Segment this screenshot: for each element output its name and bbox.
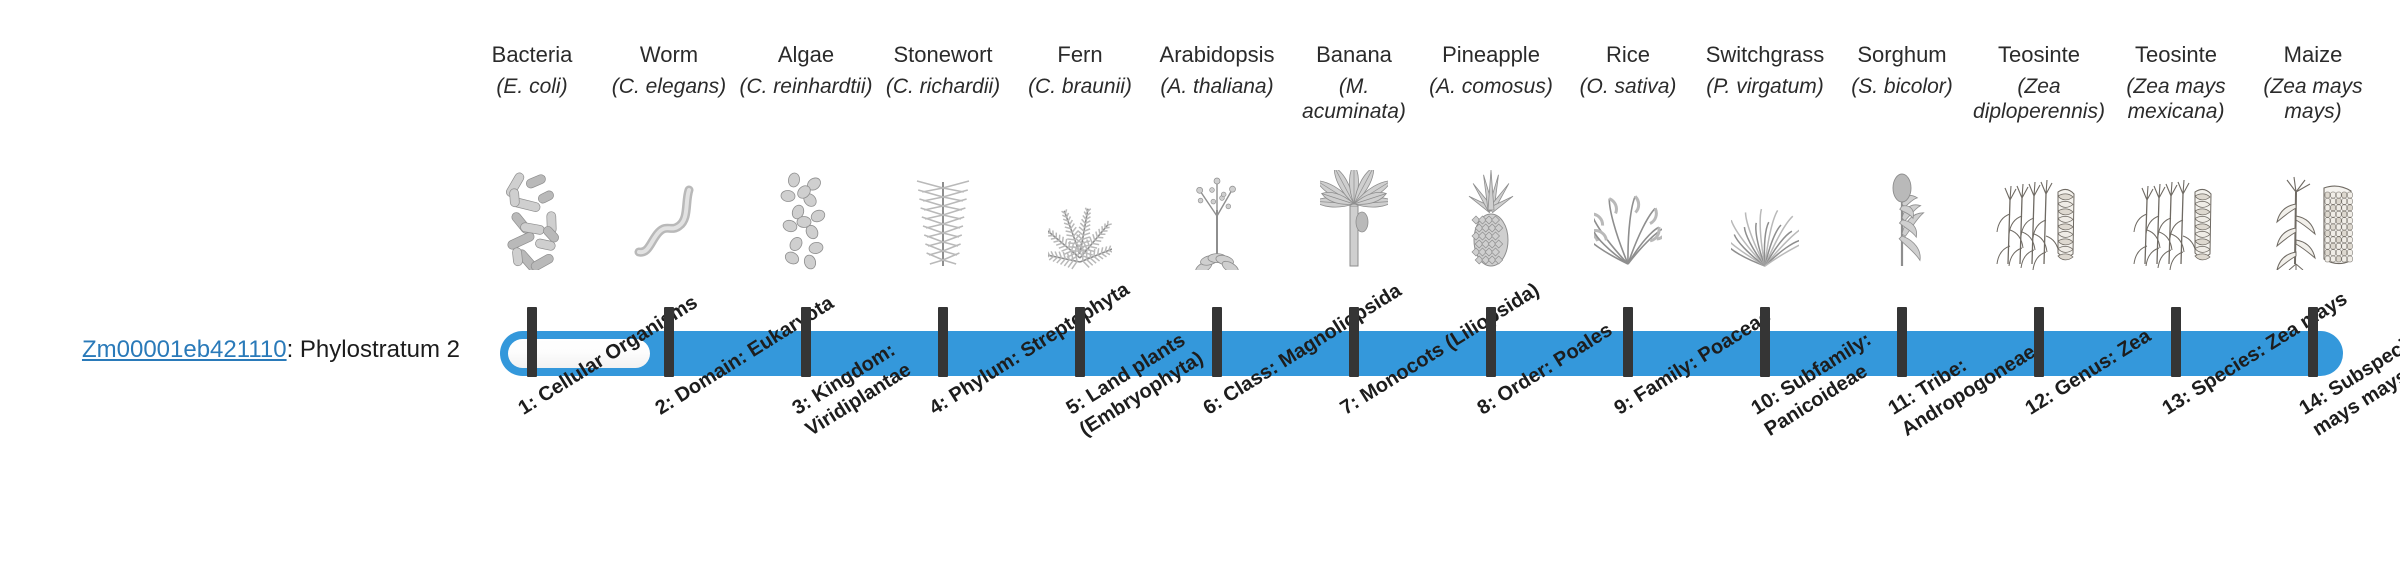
species-column: Rice(O. sativa) 9: Family [1560, 0, 1697, 580]
phylostratum-tick [2171, 307, 2181, 377]
species-column: Sorghum(S. bicolor) 11: Tribe: Andropogo… [1834, 0, 1971, 580]
species-scientific-name: (C. braunii) [1012, 74, 1149, 99]
fern-icon [1012, 166, 1149, 270]
species-scientific-name: (S. bicolor) [1834, 74, 1971, 99]
algae-icon [738, 166, 875, 270]
species-common-name: Stonewort [875, 42, 1012, 68]
gene-phylostratum-label: Zm00001eb421110: Phylostratum 2 [0, 335, 460, 365]
phylostratum-tick [1897, 307, 1907, 377]
species-scientific-name: (Zea mays mexicana) [2108, 74, 2245, 124]
species-scientific-name: (C. reinhardtii) [738, 74, 875, 99]
phylostratum-value-text: Phylostratum 2 [300, 336, 460, 363]
species-common-name: Banana [1286, 42, 1423, 68]
species-common-name: Fern [1012, 42, 1149, 68]
phylostratum-tick [527, 307, 537, 377]
species-common-name: Switchgrass [1697, 42, 1834, 68]
species-scientific-name: (C. elegans) [601, 74, 738, 99]
phylostratum-tick [938, 307, 948, 377]
species-scientific-name: (Zea diploperennis) [1971, 74, 2108, 124]
phylostratum-tick [1349, 307, 1359, 377]
species-common-name: Rice [1560, 42, 1697, 68]
species-common-name: Sorghum [1834, 42, 1971, 68]
species-common-name: Pineapple [1423, 42, 1560, 68]
species-column: Bacteria(E. coli)1: Cellular Organisms [464, 0, 601, 580]
phylostratum-tick [1623, 307, 1633, 377]
species-column: Teosinte(Zea diploperennis) 12: Genus: Z… [1971, 0, 2108, 580]
rice-icon [1560, 166, 1697, 270]
species-common-name: Algae [738, 42, 875, 68]
worm-icon [601, 166, 738, 270]
phylostratum-tick [1760, 307, 1770, 377]
pineapple-icon [1423, 166, 1560, 270]
gene-label-separator: : [287, 336, 300, 363]
species-scientific-name: (A. thaliana) [1149, 74, 1286, 99]
phylostratum-tick [1212, 307, 1222, 377]
species-common-name: Maize [2245, 42, 2382, 68]
species-scientific-name: (A. comosus) [1423, 74, 1560, 99]
phylostratigraphy-timeline: Zm00001eb421110: Phylostratum 2 Bacteria… [0, 0, 2400, 580]
species-scientific-name: (P. virgatum) [1697, 74, 1834, 99]
banana-icon [1286, 166, 1423, 270]
species-common-name: Arabidopsis [1149, 42, 1286, 68]
phylostratum-tick [2308, 307, 2318, 377]
phylostratum-tick [664, 307, 674, 377]
species-column: Banana(M. acuminata) [1286, 0, 1423, 580]
species-common-name: Teosinte [2108, 42, 2245, 68]
phylostratum-tick [1075, 307, 1085, 377]
species-common-name: Worm [601, 42, 738, 68]
phylostratum-tick [2034, 307, 2044, 377]
arabidopsis-icon [1149, 166, 1286, 270]
species-scientific-name: (Zea mays mays) [2245, 74, 2382, 124]
species-column: Pineapple(A. comosus) 8: Order: Poales [1423, 0, 1560, 580]
species-scientific-name: (M. acuminata) [1286, 74, 1423, 124]
species-column: Arabidopsis(A. thaliana) 6: Class: Magno… [1149, 0, 1286, 580]
species-column: Teosinte(Zea mays mexicana) 13: Species:… [2108, 0, 2245, 580]
sorghum-icon [1834, 166, 1971, 270]
teosinte-icon [1971, 166, 2108, 270]
species-column: Algae(C. reinhardtii)3: Kingdom: Viridip… [738, 0, 875, 580]
species-track: Bacteria(E. coli)1: Cellular OrganismsWo… [532, 0, 2400, 580]
species-column: Switchgrass(P. virgatum)10: Subfamily: P… [1697, 0, 1834, 580]
species-scientific-name: (C. richardii) [875, 74, 1012, 99]
species-common-name: Bacteria [464, 42, 601, 68]
switchgrass-icon [1697, 166, 1834, 270]
species-column: Stonewort(C. richardii) 4: Phylum: Strep… [875, 0, 1012, 580]
maize-icon [2245, 166, 2382, 270]
species-scientific-name: (E. coli) [464, 74, 601, 99]
stonewort-icon [875, 166, 1012, 270]
species-column: Worm(C. elegans) 2: Domain: Eukaryota [601, 0, 738, 580]
bacteria-icon [464, 166, 601, 270]
gene-id-link[interactable]: Zm00001eb421110 [82, 336, 287, 363]
species-scientific-name: (O. sativa) [1560, 74, 1697, 99]
species-common-name: Teosinte [1971, 42, 2108, 68]
teosinte-icon [2108, 166, 2245, 270]
species-column: Fern(C. braunii)5: Land plants (Embryoph… [1012, 0, 1149, 580]
phylostratum-tick [1486, 307, 1496, 377]
species-column: Maize(Zea mays mays) 14: Subspecies: Zea… [2245, 0, 2382, 580]
phylostratum-tick [801, 307, 811, 377]
